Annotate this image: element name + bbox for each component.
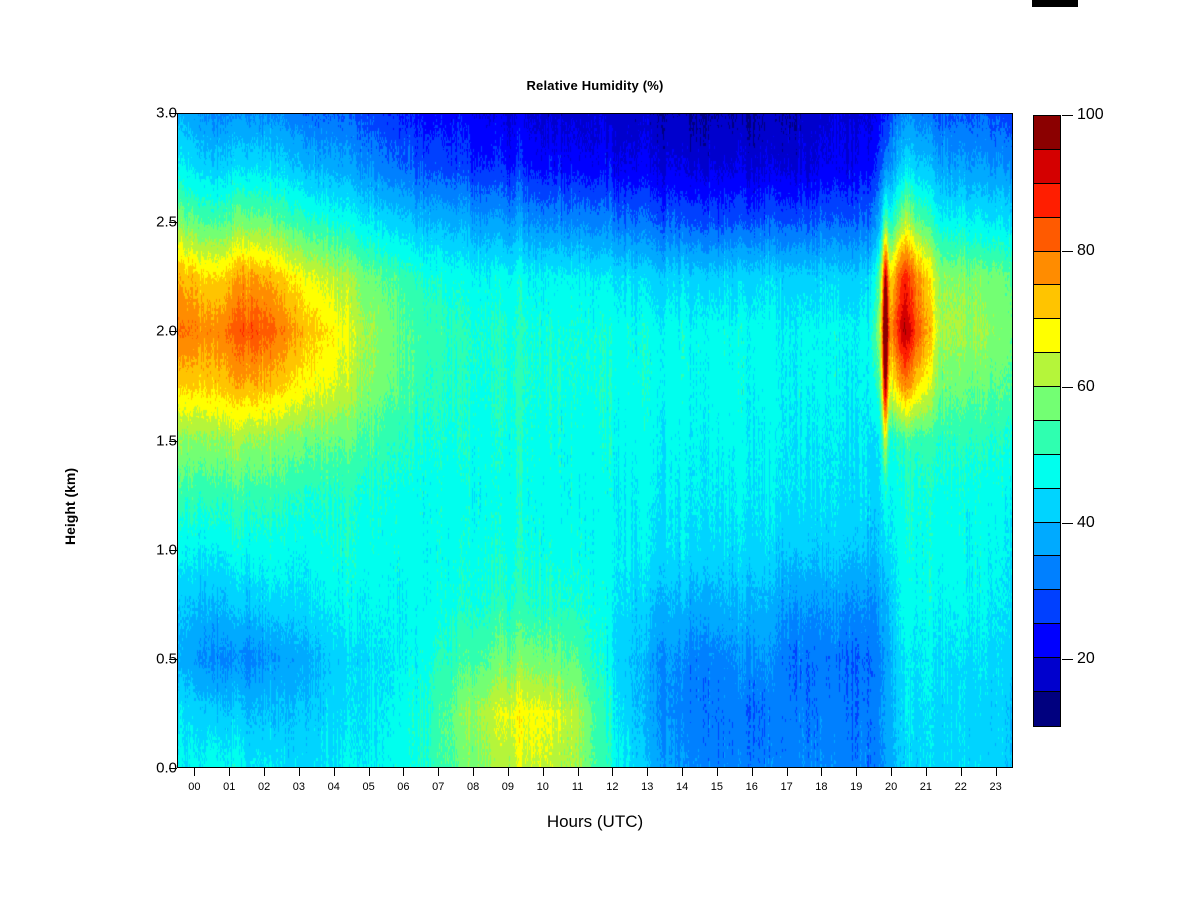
colorbar-tick-mark: [1062, 387, 1073, 388]
x-tick-mark: [543, 768, 544, 776]
colorbar-band: [1034, 658, 1060, 692]
x-tick-label: 00: [188, 781, 200, 793]
x-tick-mark: [682, 768, 683, 776]
x-tick-label: 21: [920, 781, 932, 793]
x-tick-mark: [369, 768, 370, 776]
colorbar-band: [1034, 523, 1060, 557]
x-tick-label: 16: [746, 781, 758, 793]
colorbar-tick-label: 80: [1077, 242, 1095, 260]
colorbar-band: [1034, 387, 1060, 421]
y-tick-label: 2.0: [156, 323, 177, 340]
x-tick-label: 20: [885, 781, 897, 793]
x-tick-label: 15: [711, 781, 723, 793]
x-tick-label: 18: [815, 781, 827, 793]
colorbar: [1033, 115, 1061, 727]
x-tick-mark: [194, 768, 195, 776]
x-axis-title: Hours (UTC): [177, 812, 1013, 832]
x-tick-mark: [856, 768, 857, 776]
x-tick-mark: [647, 768, 648, 776]
colorbar-band: [1034, 252, 1060, 286]
x-tick-mark: [578, 768, 579, 776]
page-title: Relative Humidity (%): [177, 78, 1013, 93]
colorbar-tick-mark: [1062, 659, 1073, 660]
x-tick-mark: [438, 768, 439, 776]
colorbar-band: [1034, 455, 1060, 489]
colorbar-band: [1034, 319, 1060, 353]
x-tick-label: 02: [258, 781, 270, 793]
x-tick-mark: [299, 768, 300, 776]
x-tick-mark: [787, 768, 788, 776]
x-tick-mark: [961, 768, 962, 776]
colorbar-band: [1034, 590, 1060, 624]
colorbar-band: [1034, 285, 1060, 319]
colorbar-band: [1034, 184, 1060, 218]
x-tick-label: 11: [572, 781, 583, 793]
colorbar-band: [1034, 489, 1060, 523]
relative-humidity-time-height-figure: Relative Humidity (%) 0.00.51.01.52.02.5…: [0, 0, 1200, 900]
x-tick-mark: [891, 768, 892, 776]
colorbar-band: [1034, 353, 1060, 387]
x-tick-mark: [229, 768, 230, 776]
x-tick-label: 12: [606, 781, 618, 793]
x-tick-mark: [996, 768, 997, 776]
x-tick-label: 03: [293, 781, 305, 793]
x-tick-label: 17: [780, 781, 792, 793]
x-tick-label: 09: [502, 781, 514, 793]
x-tick-label: 23: [989, 781, 1001, 793]
heatmap-plot-area: [177, 113, 1013, 768]
x-tick-mark: [403, 768, 404, 776]
colorbar-tick-label: 20: [1077, 650, 1095, 668]
colorbar-tick-mark: [1062, 251, 1073, 252]
x-tick-label: 01: [223, 781, 235, 793]
colorbar-band: [1034, 624, 1060, 658]
colorbar-tick-label: 40: [1077, 514, 1095, 532]
y-tick-label: 0.5: [156, 650, 177, 667]
colorbar-band: [1034, 556, 1060, 590]
colorbar-band: [1034, 421, 1060, 455]
colorbar-tick-label: 100: [1077, 106, 1104, 124]
x-tick-mark: [752, 768, 753, 776]
colorbar-tick-mark: [1062, 523, 1073, 524]
colorbar-band: [1034, 150, 1060, 184]
x-tick-mark: [264, 768, 265, 776]
x-tick-mark: [473, 768, 474, 776]
y-tick-label: 3.0: [156, 105, 177, 122]
corner-artifact: [1032, 0, 1078, 7]
colorbar-tick-label: 60: [1077, 378, 1095, 396]
x-tick-label: 04: [328, 781, 340, 793]
x-tick-label: 22: [955, 781, 967, 793]
x-tick-mark: [334, 768, 335, 776]
x-tick-label: 05: [362, 781, 374, 793]
x-tick-label: 08: [467, 781, 479, 793]
y-tick-label: 1.5: [156, 432, 177, 449]
x-tick-mark: [508, 768, 509, 776]
x-tick-mark: [612, 768, 613, 776]
x-tick-mark: [926, 768, 927, 776]
colorbar-band: [1034, 218, 1060, 252]
colorbar-band: [1034, 116, 1060, 150]
y-tick-label: 2.5: [156, 214, 177, 231]
colorbar-tick-mark: [1062, 115, 1073, 116]
y-tick-label: 1.0: [156, 541, 177, 558]
x-tick-label: 06: [397, 781, 409, 793]
y-tick-label: 0.0: [156, 760, 177, 777]
x-tick-label: 13: [641, 781, 653, 793]
x-tick-label: 14: [676, 781, 688, 793]
colorbar-band: [1034, 692, 1060, 726]
x-tick-mark: [821, 768, 822, 776]
y-axis-title: Height (km): [62, 468, 78, 545]
relative-humidity-heatmap: [177, 113, 1013, 768]
x-tick-label: 19: [850, 781, 862, 793]
x-tick-label: 07: [432, 781, 444, 793]
x-tick-mark: [717, 768, 718, 776]
x-tick-label: 10: [537, 781, 549, 793]
